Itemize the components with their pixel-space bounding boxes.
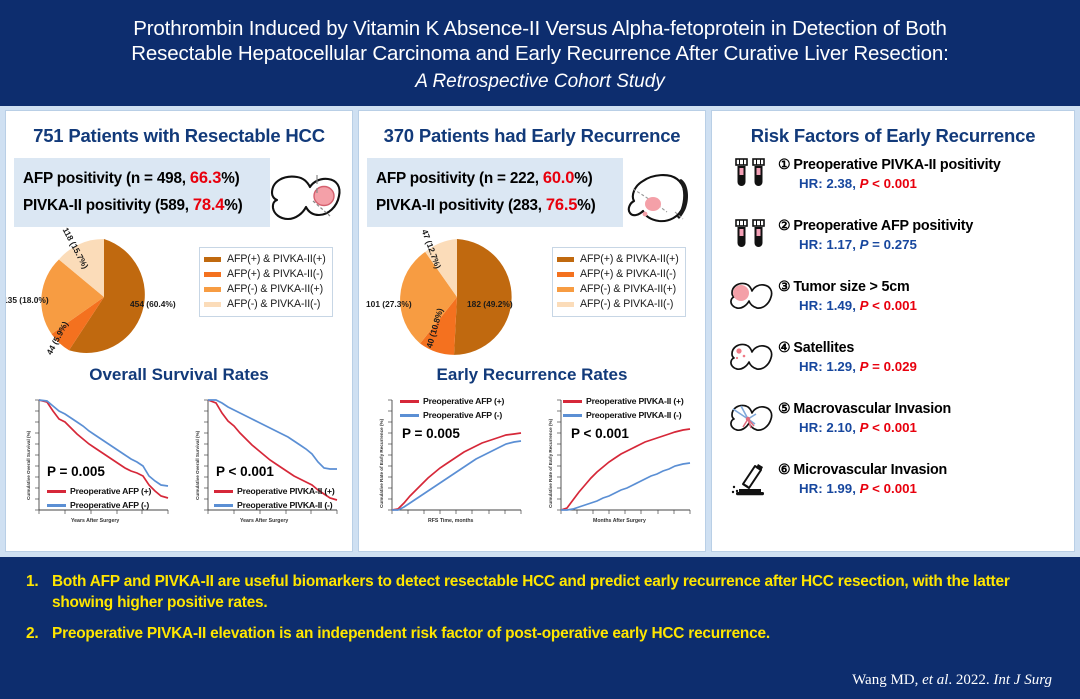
km-pvalue-er-afp: P = 0.005	[402, 426, 460, 441]
citation: Wang MD, et al. 2022. Int J Surg	[852, 672, 1052, 689]
risk-hr-value: HR: 2.10,	[799, 420, 860, 435]
risk-p-value: P < 0.001	[860, 176, 917, 191]
risk-hr-row: HR: 2.10, P < 0.001	[799, 418, 951, 437]
stat-afp-value: 60.0	[543, 169, 574, 187]
pie-label-slice-1: 454 (60.4%)	[130, 299, 176, 309]
panel-right-title: Risk Factors of Early Recurrence	[712, 111, 1074, 147]
blood-tubes-icon	[726, 214, 778, 258]
stat-pivka-post: %)	[577, 197, 595, 214]
risk-item-microvascular-invasion: ⑥Microvascular Invasion HR: 1.99, P < 0.…	[726, 458, 1074, 510]
risk-text: ⑤Macrovascular Invasion HR: 2.10, P < 0.…	[778, 397, 951, 437]
risk-hr-row: HR: 2.38, P < 0.001	[799, 174, 1001, 193]
citation-journal: Int J Surg	[993, 672, 1052, 688]
title-line-2: Resectable Hepatocellular Carcinoma and …	[131, 41, 948, 66]
panel-mid-stat-box: AFP positivity (n = 222, 60.0%) PIVKA-II…	[367, 158, 623, 227]
km-ylabel: Cumulative Rate of Early Recurrence (%)	[379, 419, 384, 508]
legend-label: Preoperative AFP (-)	[70, 500, 149, 510]
risk-hr-row: HR: 1.29, P = 0.029	[799, 357, 917, 376]
early-recurrence-title: Early Recurrence Rates	[359, 365, 705, 385]
legend-line-icon	[400, 414, 419, 417]
risk-factor-list: ①Preoperative PIVKA-II positivity HR: 2.…	[726, 153, 1074, 510]
risk-hr-row: HR: 1.99, P < 0.001	[799, 479, 947, 498]
panel-mid-title: 370 Patients had Early Recurrence	[359, 111, 705, 147]
conclusion-number: 1.	[26, 571, 52, 613]
panel-resectable-hcc: 751 Patients with Resectable HCC AFP pos…	[5, 110, 353, 552]
stat-afp-post: %)	[221, 170, 239, 187]
citation-author: Wang MD,	[852, 672, 922, 688]
risk-p-value: P = 0.029	[860, 359, 917, 374]
overall-survival-charts: P = 0.005 Preoperative AFP (+) Preoperat…	[6, 390, 352, 538]
liver-recurrence-icon	[617, 167, 699, 229]
poster-footer: 1. Both AFP and PIVKA-II are useful biom…	[0, 557, 1080, 699]
legend-label: Preoperative AFP (-)	[423, 410, 502, 420]
risk-label: Macrovascular Invasion	[793, 401, 951, 417]
km-xlabel: RFS Time, months	[428, 518, 473, 524]
km-xlabel: Years After Surgery	[71, 518, 119, 524]
pie-label-slice-3: 101 (27.3%)	[366, 299, 412, 309]
panel-mid-pie-block: 182 (49.2%) 40 (10.8%) 101 (27.3%) 47 (1…	[359, 237, 705, 357]
risk-p-number: < 0.001	[868, 420, 916, 435]
km-legend-item: Preoperative PIVKA-II (+)	[214, 486, 335, 496]
early-recurrence-charts: P = 0.005 Preoperative AFP (+) Preoperat…	[359, 390, 705, 538]
legend-line-icon	[47, 490, 66, 493]
risk-p-number: = 0.029	[868, 359, 916, 374]
stat-afp-post: %)	[574, 170, 592, 187]
km-pvalue-er-pivka: P < 0.001	[571, 426, 629, 441]
liver-large-tumor-icon	[726, 275, 778, 319]
stat-pivka-value: 76.5	[546, 196, 577, 214]
risk-name-row: ⑥Microvascular Invasion	[778, 460, 947, 479]
risk-item-satellites: ④Satellites HR: 1.29, P = 0.029	[726, 336, 1074, 388]
legend-item: AFP(+) & PIVKA-II(+)	[557, 252, 679, 267]
panel-risk-factors: Risk Factors of Early Recurrence	[711, 110, 1075, 552]
risk-text: ②Preoperative AFP positivity HR: 1.17, P…	[778, 214, 973, 254]
legend-line-icon	[400, 400, 419, 403]
km-legend-item: Preoperative PIVKA-II (-)	[214, 500, 332, 510]
legend-swatch-icon	[204, 287, 221, 292]
panel-left-pie-block: 454 (60.4%) 44 (5.9%) 135 (18.0%) 118 (1…	[6, 237, 352, 357]
legend-label: AFP(+) & PIVKA-II(-)	[227, 267, 323, 282]
citation-etal: et al	[922, 672, 948, 688]
km-legend-item: Preoperative PIVKA-II (-)	[563, 410, 681, 420]
legend-label: Preoperative PIVKA-II (+)	[237, 486, 335, 496]
legend-item: AFP(+) & PIVKA-II(+)	[204, 252, 326, 267]
risk-name-row: ③Tumor size > 5cm	[778, 277, 917, 296]
pie-label-slice-1: 182 (49.2%)	[467, 299, 513, 309]
km-legend-item: Preoperative AFP (-)	[400, 410, 502, 420]
risk-item-afp-positivity: ②Preoperative AFP positivity HR: 1.17, P…	[726, 214, 1074, 266]
risk-p-number: < 0.001	[868, 481, 916, 496]
risk-hr-value: HR: 1.17,	[799, 237, 860, 252]
poster-root: Prothrombin Induced by Vitamin K Absence…	[0, 0, 1080, 699]
km-ylabel: Cumulative Overall Survival (%)	[195, 431, 200, 500]
legend-label: AFP(+) & PIVKA-II(+)	[580, 252, 679, 267]
pie-legend-mid: AFP(+) & PIVKA-II(+) AFP(+) & PIVKA-II(-…	[552, 247, 686, 317]
risk-hr-value: HR: 1.49,	[799, 298, 860, 313]
legend-label: AFP(-) & PIVKA-II(+)	[227, 282, 323, 297]
risk-text: ①Preoperative PIVKA-II positivity HR: 2.…	[778, 153, 1001, 193]
risk-name-row: ②Preoperative AFP positivity	[778, 216, 973, 235]
risk-number: ③	[778, 277, 790, 295]
km-xlabel: Years After Surgery	[240, 518, 288, 524]
risk-hr-value: HR: 1.29,	[799, 359, 860, 374]
legend-label: AFP(-) & PIVKA-II(-)	[580, 297, 673, 312]
legend-swatch-icon	[557, 287, 574, 292]
risk-p-number: < 0.001	[868, 298, 916, 313]
stat-pivka-value: 78.4	[193, 196, 224, 214]
panel-early-recurrence: 370 Patients had Early Recurrence AFP po…	[358, 110, 706, 552]
risk-p-number: = 0.275	[868, 237, 916, 252]
risk-text: ⑥Microvascular Invasion HR: 1.99, P < 0.…	[778, 458, 947, 498]
risk-p-value: P < 0.001	[860, 420, 917, 435]
risk-number: ②	[778, 216, 790, 234]
stat-pivka-pre: PIVKA-II positivity (589,	[23, 197, 193, 214]
pie-chart-recurrence	[381, 233, 551, 361]
legend-label: AFP(+) & PIVKA-II(+)	[227, 252, 326, 267]
legend-item: AFP(+) & PIVKA-II(-)	[557, 267, 679, 282]
title-subtitle: A Retrospective Cohort Study	[415, 69, 665, 95]
legend-item: AFP(+) & PIVKA-II(-)	[204, 267, 326, 282]
stat-pivka-positivity: PIVKA-II positivity (589, 78.4%)	[23, 192, 261, 219]
legend-label: Preoperative PIVKA-II (-)	[237, 500, 332, 510]
risk-p-number: < 0.001	[868, 176, 916, 191]
legend-line-icon	[47, 504, 66, 507]
legend-label: Preoperative AFP (+)	[423, 396, 504, 406]
risk-name-row: ④Satellites	[778, 338, 917, 357]
km-chart-os-pivka: P < 0.001 Preoperative PIVKA-II (+) Preo…	[182, 390, 345, 538]
overall-survival-title: Overall Survival Rates	[6, 365, 352, 385]
risk-label: Microvascular Invasion	[793, 462, 947, 478]
stat-pivka-positivity: PIVKA-II positivity (283, 76.5%)	[376, 192, 614, 219]
km-xlabel: Months After Surgery	[593, 518, 646, 524]
legend-swatch-icon	[557, 272, 574, 277]
legend-label: AFP(-) & PIVKA-II(+)	[580, 282, 676, 297]
conclusion-text: Both AFP and PIVKA-II are useful biomark…	[52, 571, 1054, 613]
stat-afp-positivity: AFP positivity (n = 498, 66.3%)	[23, 165, 261, 192]
blood-tubes-icon	[726, 153, 778, 197]
stat-afp-value: 66.3	[190, 169, 221, 187]
legend-line-icon	[563, 400, 582, 403]
poster-header: Prothrombin Induced by Vitamin K Absence…	[0, 0, 1080, 106]
conclusion-item-1: 1. Both AFP and PIVKA-II are useful biom…	[26, 571, 1054, 613]
legend-item: AFP(-) & PIVKA-II(+)	[557, 282, 679, 297]
risk-item-macrovascular-invasion: ⑤Macrovascular Invasion HR: 2.10, P < 0.…	[726, 397, 1074, 449]
pie-legend-left: AFP(+) & PIVKA-II(+) AFP(+) & PIVKA-II(-…	[199, 247, 333, 317]
stat-afp-pre: AFP positivity (n = 498,	[23, 170, 190, 187]
legend-item: AFP(-) & PIVKA-II(-)	[557, 297, 679, 312]
citation-year: . 2022.	[948, 672, 993, 688]
panel-left-stat-box: AFP positivity (n = 498, 66.3%) PIVKA-II…	[14, 158, 270, 227]
legend-swatch-icon	[204, 272, 221, 277]
km-legend-item: Preoperative AFP (+)	[47, 486, 151, 496]
risk-number: ⑤	[778, 399, 790, 417]
liver-tumor-icon	[264, 167, 346, 229]
risk-label: Preoperative AFP positivity	[793, 218, 973, 234]
poster-body: 751 Patients with Resectable HCC AFP pos…	[0, 106, 1080, 557]
liver-satellites-icon	[726, 336, 778, 380]
legend-label: Preoperative AFP (+)	[70, 486, 151, 496]
risk-number: ①	[778, 155, 790, 173]
risk-label: Satellites	[793, 340, 854, 356]
risk-p-value: P < 0.001	[860, 298, 917, 313]
risk-item-pivka-positivity: ①Preoperative PIVKA-II positivity HR: 2.…	[726, 153, 1074, 205]
legend-line-icon	[214, 490, 233, 493]
stat-pivka-post: %)	[224, 197, 242, 214]
conclusion-item-2: 2. Preoperative PIVKA-II elevation is an…	[26, 623, 1054, 644]
legend-label: Preoperative PIVKA-II (-)	[586, 410, 681, 420]
conclusion-number: 2.	[26, 623, 52, 644]
legend-item: AFP(-) & PIVKA-II(+)	[204, 282, 326, 297]
title-line-1: Prothrombin Induced by Vitamin K Absence…	[133, 16, 947, 41]
stat-afp-pre: AFP positivity (n = 222,	[376, 170, 543, 187]
legend-line-icon	[214, 504, 233, 507]
km-pvalue-os-afp: P = 0.005	[47, 464, 105, 479]
km-ylabel: Cumulative Overall Survival (%)	[26, 431, 31, 500]
legend-label: Preoperative PIVKA-II (+)	[586, 396, 684, 406]
risk-p-value: P = 0.275	[860, 237, 917, 252]
microscope-icon	[726, 458, 778, 502]
km-pvalue-os-pivka: P < 0.001	[216, 464, 274, 479]
legend-swatch-icon	[204, 302, 221, 307]
risk-name-row: ①Preoperative PIVKA-II positivity	[778, 155, 1001, 174]
panel-left-title: 751 Patients with Resectable HCC	[6, 111, 352, 147]
risk-number: ⑥	[778, 460, 790, 478]
risk-hr-row: HR: 1.49, P < 0.001	[799, 296, 917, 315]
liver-vessel-icon	[726, 397, 778, 441]
legend-line-icon	[563, 414, 582, 417]
legend-label: AFP(-) & PIVKA-II(-)	[227, 297, 320, 312]
risk-name-row: ⑤Macrovascular Invasion	[778, 399, 951, 418]
km-chart-er-afp: P = 0.005 Preoperative AFP (+) Preoperat…	[366, 390, 529, 538]
risk-number: ④	[778, 338, 790, 356]
km-chart-er-pivka: P < 0.001 Preoperative PIVKA-II (+) Preo…	[535, 390, 698, 538]
legend-swatch-icon	[204, 257, 221, 262]
km-legend-item: Preoperative PIVKA-II (+)	[563, 396, 684, 406]
risk-hr-value: HR: 1.99,	[799, 481, 860, 496]
km-legend-item: Preoperative AFP (+)	[400, 396, 504, 406]
risk-item-tumor-size: ③Tumor size > 5cm HR: 1.49, P < 0.001	[726, 275, 1074, 327]
legend-label: AFP(+) & PIVKA-II(-)	[580, 267, 676, 282]
risk-text: ③Tumor size > 5cm HR: 1.49, P < 0.001	[778, 275, 917, 315]
km-legend-item: Preoperative AFP (-)	[47, 500, 149, 510]
legend-item: AFP(-) & PIVKA-II(-)	[204, 297, 326, 312]
risk-p-value: P < 0.001	[860, 481, 917, 496]
km-ylabel: Cumulative Rate of Early Recurrence (%)	[548, 419, 553, 508]
risk-label: Tumor size > 5cm	[793, 279, 909, 295]
conclusion-text: Preoperative PIVKA-II elevation is an in…	[52, 623, 770, 644]
km-chart-os-afp: P = 0.005 Preoperative AFP (+) Preoperat…	[13, 390, 176, 538]
risk-text: ④Satellites HR: 1.29, P = 0.029	[778, 336, 917, 376]
pie-label-slice-3: 135 (18.0%)	[5, 295, 49, 305]
risk-hr-value: HR: 2.38,	[799, 176, 860, 191]
legend-swatch-icon	[557, 302, 574, 307]
legend-swatch-icon	[557, 257, 574, 262]
risk-label: Preoperative PIVKA-II positivity	[793, 157, 1000, 173]
stat-pivka-pre: PIVKA-II positivity (283,	[376, 197, 546, 214]
stat-afp-positivity: AFP positivity (n = 222, 60.0%)	[376, 165, 614, 192]
risk-hr-row: HR: 1.17, P = 0.275	[799, 235, 973, 254]
